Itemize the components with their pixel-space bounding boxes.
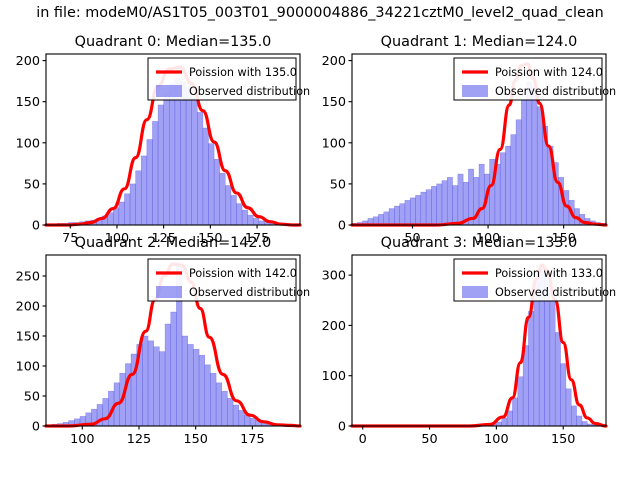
legend-entry-label: Poission with 135.0 xyxy=(189,66,297,79)
histogram-bar xyxy=(582,421,587,426)
x-tick-label: 100 xyxy=(70,432,94,447)
histogram-bar xyxy=(125,364,131,426)
legend-entry-label: Poission with 133.0 xyxy=(495,267,603,280)
plot-canvas: Quadrant 0: Median=135.07510012515017505… xyxy=(0,0,640,480)
histogram-bar xyxy=(188,344,194,426)
histogram-bar xyxy=(405,200,410,225)
y-tick-label: 200 xyxy=(16,300,40,315)
histogram-bar xyxy=(233,405,239,426)
histogram-bar xyxy=(237,204,243,225)
histogram-bar xyxy=(113,208,119,225)
histogram-bar xyxy=(152,121,158,225)
y-tick-label: 200 xyxy=(16,54,40,69)
histogram-bar xyxy=(164,93,170,225)
y-tick-label: 0 xyxy=(338,420,346,435)
histogram-bar xyxy=(147,140,153,226)
histogram-bar xyxy=(577,416,582,426)
histogram-bar xyxy=(154,347,160,426)
histogram-bar xyxy=(242,210,248,225)
legend-entry-label: Observed distribution xyxy=(495,85,616,98)
subplot-title-quadrant-0: Quadrant 0: Median=135.0 xyxy=(75,34,272,50)
histogram-bar xyxy=(521,100,526,225)
histogram-bar xyxy=(555,332,560,426)
histogram-bar xyxy=(416,195,421,225)
y-tick-label: 50 xyxy=(24,177,40,192)
histogram-bar xyxy=(505,146,510,225)
histogram-bar xyxy=(431,186,436,225)
subplot-quadrant-1: Quadrant 1: Median=124.05010015005010015… xyxy=(322,34,617,246)
histogram-bar xyxy=(244,415,250,426)
histogram-bar xyxy=(511,135,516,225)
histogram-bar xyxy=(400,204,405,225)
subplot-quadrant-0: Quadrant 0: Median=135.07510012515017505… xyxy=(16,34,311,246)
histogram-bar xyxy=(479,164,484,225)
y-tick-label: 200 xyxy=(322,319,346,334)
histogram-bar xyxy=(227,398,233,426)
histogram-bar xyxy=(394,206,399,225)
legend-entry-label: Observed distribution xyxy=(495,286,616,299)
histogram-bar xyxy=(453,186,458,225)
legend-quadrant-3[interactable]: Poission with 133.0Observed distribution xyxy=(454,259,616,301)
histogram-bars-quadrant-1 xyxy=(352,82,606,225)
histogram-bar xyxy=(225,186,231,225)
histogram-bar xyxy=(124,194,130,225)
histogram-bar xyxy=(231,195,237,225)
histogram-bar xyxy=(566,389,571,426)
subplot-title-quadrant-3: Quadrant 3: Median=133.0 xyxy=(381,235,578,251)
legend-swatch-observed xyxy=(462,286,488,298)
histogram-bar xyxy=(248,215,254,225)
histogram-bar xyxy=(222,391,228,426)
y-tick-label: 200 xyxy=(322,54,346,69)
x-tick-label: 50 xyxy=(421,432,437,447)
histogram-bar xyxy=(389,209,394,225)
histogram-bar xyxy=(216,383,222,426)
histogram-bar xyxy=(197,112,203,225)
histogram-bar xyxy=(130,184,136,225)
histogram-bar xyxy=(193,349,199,426)
subplot-title-quadrant-1: Quadrant 1: Median=124.0 xyxy=(381,34,578,50)
histogram-bar xyxy=(426,190,431,225)
y-tick-label: 100 xyxy=(16,360,40,375)
x-tick-label: 125 xyxy=(127,432,151,447)
histogram-bar xyxy=(142,336,148,426)
histogram-bar xyxy=(119,202,125,225)
histogram-bar xyxy=(496,422,501,426)
histogram-bar xyxy=(259,221,265,225)
histogram-bar xyxy=(205,365,211,426)
histogram-bar xyxy=(518,377,523,426)
y-tick-label: 0 xyxy=(32,420,40,435)
legend-swatch-observed xyxy=(156,85,182,97)
x-tick-label: 175 xyxy=(240,432,264,447)
histogram-bar xyxy=(378,214,383,225)
y-tick-label: 150 xyxy=(16,330,40,345)
legend-entry-label: Poission with 124.0 xyxy=(495,66,603,79)
histogram-bar xyxy=(210,373,216,426)
histogram-bar xyxy=(199,355,205,426)
y-tick-label: 300 xyxy=(322,269,346,284)
histogram-bar xyxy=(550,300,555,426)
histogram-bar xyxy=(192,98,198,225)
histogram-bar xyxy=(442,181,447,225)
histogram-bar xyxy=(203,128,209,225)
y-tick-label: 0 xyxy=(338,219,346,234)
histogram-bar xyxy=(410,198,415,225)
histogram-bar xyxy=(136,171,142,225)
legend-quadrant-1[interactable]: Poission with 124.0Observed distribution xyxy=(454,58,616,100)
histogram-bar xyxy=(208,144,214,225)
legend-quadrant-0[interactable]: Poission with 135.0Observed distribution xyxy=(148,58,310,100)
histogram-bar xyxy=(571,406,576,426)
histogram-bar xyxy=(458,174,463,225)
y-tick-label: 50 xyxy=(24,390,40,405)
histogram-bar xyxy=(421,192,426,225)
histogram-bar xyxy=(182,336,188,426)
y-tick-label: 50 xyxy=(330,177,346,192)
y-tick-label: 150 xyxy=(322,95,346,110)
histogram-bar xyxy=(253,218,259,225)
histogram-bar xyxy=(500,153,505,225)
histogram-bar xyxy=(502,418,507,426)
y-tick-label: 100 xyxy=(322,369,346,384)
histogram-bar xyxy=(239,410,245,426)
legend-swatch-observed xyxy=(156,286,182,298)
histogram-bar xyxy=(561,364,566,426)
legend-swatch-observed xyxy=(462,85,488,97)
y-tick-label: 250 xyxy=(16,270,40,285)
histogram-bar xyxy=(447,177,452,225)
histogram-bar xyxy=(250,418,256,426)
histogram-bar xyxy=(148,341,154,426)
histogram-bar xyxy=(159,352,165,426)
subplot-quadrant-3: Quadrant 3: Median=133.00501001500100200… xyxy=(322,235,617,447)
histogram-bar xyxy=(169,84,175,225)
histogram-bars-quadrant-0 xyxy=(46,79,300,225)
histogram-bar xyxy=(158,105,164,225)
histogram-bar xyxy=(507,411,512,426)
histogram-bar xyxy=(437,184,442,225)
subplot-quadrant-2: Quadrant 2: Median=142.01001251501750501… xyxy=(16,235,311,447)
histogram-bar xyxy=(532,87,537,225)
legend-quadrant-2[interactable]: Poission with 142.0Observed distribution xyxy=(148,259,310,301)
histogram-bar xyxy=(534,281,539,426)
y-tick-label: 100 xyxy=(16,136,40,151)
histogram-bar xyxy=(384,212,389,225)
histogram-bar xyxy=(537,107,542,225)
x-tick-label: 0 xyxy=(359,432,367,447)
y-tick-label: 100 xyxy=(322,136,346,151)
histogram-bar xyxy=(512,398,517,426)
histogram-bar xyxy=(165,324,171,426)
histogram-bar xyxy=(528,311,533,426)
legend-entry-label: Observed distribution xyxy=(189,85,310,98)
histogram-bar xyxy=(141,156,147,225)
x-tick-label: 150 xyxy=(551,432,575,447)
histogram-bar xyxy=(214,159,220,225)
histogram-bar xyxy=(103,398,109,426)
matplotlib-figure: in file: modeM0/AS1T05_003T01_9000004886… xyxy=(0,0,640,480)
histogram-bar xyxy=(468,169,473,225)
histogram-bar xyxy=(220,173,226,225)
x-tick-label: 150 xyxy=(183,432,207,447)
histogram-bar xyxy=(186,87,192,225)
legend-entry-label: Observed distribution xyxy=(189,286,310,299)
histogram-bar xyxy=(527,82,532,225)
figure-suptitle-text: in file: modeM0/AS1T05_003T01_9000004886… xyxy=(36,0,604,26)
subplot-title-quadrant-2: Quadrant 2: Median=142.0 xyxy=(75,235,272,251)
histogram-bar xyxy=(175,79,181,225)
y-tick-label: 0 xyxy=(32,219,40,234)
y-tick-label: 150 xyxy=(16,95,40,110)
histogram-bar xyxy=(516,120,521,225)
legend-entry-label: Poission with 142.0 xyxy=(189,267,297,280)
figure-suptitle: in file: modeM0/AS1T05_003T01_9000004886… xyxy=(0,0,640,26)
histogram-bar xyxy=(171,312,177,426)
x-tick-label: 100 xyxy=(484,432,508,447)
histogram-bar xyxy=(180,82,186,225)
